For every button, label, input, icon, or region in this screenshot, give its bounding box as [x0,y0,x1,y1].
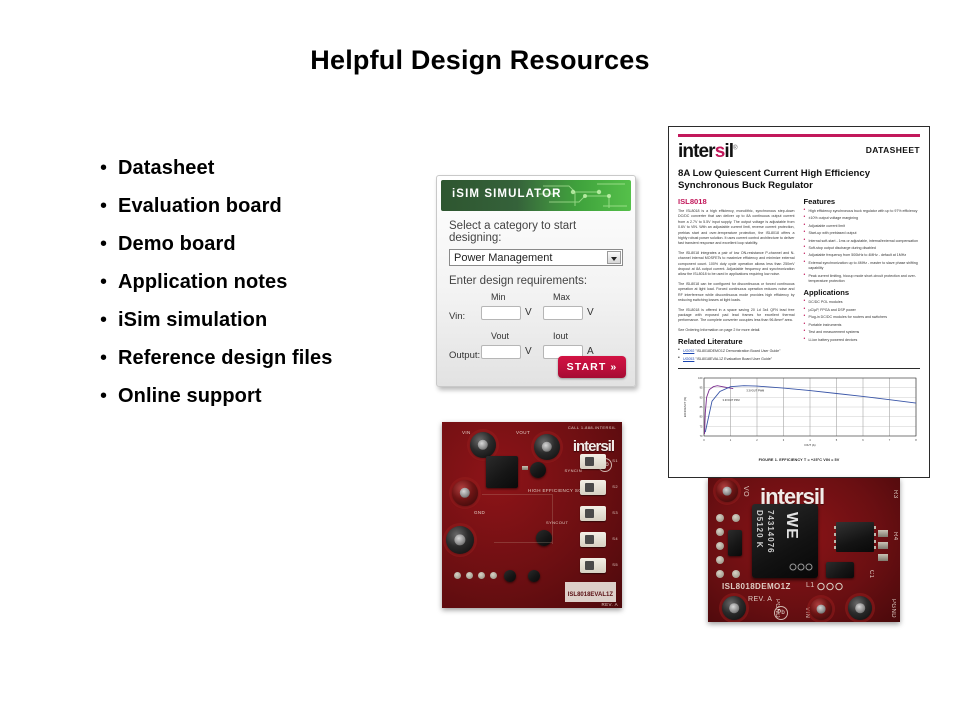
board-callout-text: CALL 1-888-INTERSIL [568,425,616,430]
solder-pad [490,572,497,579]
doc-type-label: DATASHEET [866,145,920,155]
bullet-marker-icon: • [100,383,118,409]
isim-body: Select a category to start designing: Po… [437,211,635,370]
vout-unit: V [525,346,532,357]
application-item: Li-ion battery powered devices [804,338,921,343]
silk-label: VO [742,486,749,497]
feature-item: Peak current limiting, hiccup mode short… [804,274,921,285]
silk-label: S1 [612,458,618,463]
smd-component [878,530,888,537]
related-literature-list: UG092 "ISL8018DEMO1Z Demonstration Board… [678,349,795,362]
svg-text:4: 4 [809,438,811,442]
feature-item: Start-up with prebiased output [804,231,921,236]
solder-pad [454,572,461,579]
svg-text:7: 7 [889,438,891,442]
inductor-pads-icon [789,560,815,574]
test-point [722,596,746,620]
datasheet-paragraph: The ISL8018 integrates a pair of low ON-… [678,251,795,278]
feature-item: External synchronization up to 4MHz - ma… [804,261,921,272]
related-link[interactable]: UG092 [683,349,694,353]
datasheet-left-column: ISL8018 The ISL8018 is a high efficiency… [678,197,795,364]
application-item: Test and measurement systems [804,330,921,335]
ic-chip [836,522,874,552]
board-part-label: ISL8018EVAL1Z [568,592,613,598]
silk-label: VOUT [516,430,530,435]
silk-label: SYNCIN [564,468,582,473]
bullet-marker-icon: • [100,345,118,371]
bullet-marker-icon: • [100,269,118,295]
silk-label: VIN [462,430,471,435]
solder-pad [716,542,724,550]
part-number: ISL8018 [678,197,795,206]
feature-item: Soft-stop output discharge during disabl… [804,246,921,251]
solder-pad [478,572,485,579]
solder-pad [732,514,740,522]
svg-text:85: 85 [700,405,703,409]
list-item: • Online support [100,383,420,421]
svg-text:3.3VOUT PWM: 3.3VOUT PWM [746,388,764,392]
solder-pad [716,528,724,536]
datasheet-accent-bar [678,134,920,137]
test-point [810,598,832,620]
datasheet-right-column: Features High efficiency synchronous buc… [804,197,921,364]
test-point [716,480,738,502]
datasheet-columns: ISL8018 The ISL8018 is a high efficiency… [678,197,920,364]
bullet-marker-icon: • [100,193,118,219]
dip-switch[interactable] [580,454,606,469]
datasheet-divider [678,368,920,369]
board-part-label: ISL8018DEMO1Z [722,582,791,591]
feature-item: Adjustable current limit [804,224,921,229]
list-item: • Datasheet [100,155,420,193]
silk-label: GND [474,510,485,515]
category-select-value: Power Management [454,252,552,264]
inductor-code-2: D5120 K [755,510,764,549]
datasheet-paragraph: The ISL8018 can be configured for discon… [678,282,795,304]
vout-input[interactable] [481,345,521,359]
svg-text:3.3VOUT PFM: 3.3VOUT PFM [723,398,740,402]
dip-switch[interactable] [580,506,606,521]
svg-text:70: 70 [700,434,703,438]
chevron-down-icon[interactable] [607,251,621,264]
efficiency-chart: 012345678707580859095100IOUT (A)EFFICIEN… [678,374,922,452]
silk-label: S3 [612,510,618,515]
svg-text:5: 5 [836,438,838,442]
smd-component [878,554,888,561]
features-heading: Features [804,197,921,206]
bullet-label: Reference design files [118,345,333,371]
pcb-trace [494,542,552,543]
related-text: "ISL8018DEMO1Z Demonstration Board User … [695,349,780,353]
pad-row-icon [816,582,846,591]
solder-pad [732,570,740,578]
related-link[interactable]: UG053 [683,357,694,361]
bullet-label: Online support [118,383,262,409]
dip-switch[interactable] [580,532,606,547]
capacitor-component [826,562,854,578]
vin-max-unit: V [587,307,594,318]
capacitor-component [728,530,742,556]
category-prompt: Select a category to start designing: [449,220,623,244]
inductor-component [486,456,518,488]
svg-text:75: 75 [700,424,703,428]
application-item: µC/µP, FPGA and DSP power [804,308,921,313]
bullet-label: Evaluation board [118,193,282,219]
capacitor-component [504,570,516,582]
svg-text:90: 90 [700,395,703,399]
datasheet-paragraph: See Ordering Information on page 2 for m… [678,328,795,333]
col-header-iout: Iout [553,331,568,341]
we-inductor: WE 74314076 D5120 K [752,504,818,578]
board-rev-label: REV. A [602,602,619,607]
board-rev-label: REV. A [748,596,772,603]
solder-pad [716,556,724,564]
vin-min-input[interactable] [481,306,521,320]
capacitor-component [530,462,546,478]
application-item: DC/DC POL modules [804,300,921,305]
start-button[interactable]: START » [558,356,626,378]
related-item[interactable]: UG053 "ISL8018EVAL1Z Evaluation Board Us… [678,357,795,362]
svg-text:2: 2 [756,438,758,442]
applications-list: DC/DC POL modules µC/µP, FPGA and DSP po… [804,300,921,342]
list-item: • iSim simulation [100,307,420,345]
banana-jack [446,526,474,554]
datasheet-page: intersil® DATASHEET 8A Low Quiescent Cur… [668,126,930,478]
test-point [848,596,872,620]
col-header-vout: Vout [491,331,509,341]
silk-label: C1 [868,570,874,578]
pcb-trace [552,494,553,544]
vin-row: Vin: V V [449,303,623,331]
capacitor-component [536,530,552,546]
inductor-brand-label: WE [782,512,800,540]
silk-label: S4 [612,536,618,541]
list-item: • Reference design files [100,345,420,383]
bullet-marker-icon: • [100,307,118,333]
slide-root: Helpful Design Resources • Datasheet • E… [0,0,960,720]
feature-item: Adjustable frequency from 500kHz to 4MHz… [804,253,921,258]
silk-label: L1 [806,582,815,589]
isim-title: iSIM SIMULATOR [452,188,562,200]
silk-label: SYNCOUT [546,520,568,525]
figure-caption: FIGURE 1. EFFICIENCY T = +25°C VIN = 5V [678,458,920,462]
list-item: • Evaluation board [100,193,420,231]
bullet-marker-icon: • [100,155,118,181]
svg-text:6: 6 [862,438,864,442]
bullet-marker-icon: • [100,231,118,257]
capacitor-component [528,570,540,582]
vin-row-label: Vin: [449,311,465,322]
col-header-min: Min [491,292,506,302]
smd-component [878,542,888,549]
feature-item: Internal soft-start - 1ms or adjustable,… [804,239,921,244]
silk-label: S5 [612,562,618,567]
related-text: "ISL8018EVAL1Z Evaluation Board User Gui… [695,357,772,361]
banana-jack [470,432,496,458]
datasheet-paragraph: The ISL8018 is a high efficiency, monoli… [678,209,795,247]
bullet-label: iSim simulation [118,307,267,333]
col-header-max: Max [553,292,570,302]
svg-text:1: 1 [730,438,732,442]
bullet-label: Application notes [118,269,287,295]
solder-pad [716,570,724,578]
features-list: High efficiency synchronous buck regulat… [804,209,921,284]
bullet-label: Demo board [118,231,236,257]
vin-min-unit: V [525,307,532,318]
application-item: Portable instruments [804,323,921,328]
datasheet-title: 8A Low Quiescent Current High Efficiency… [678,168,920,192]
evaluation-board-image: CALL 1-888-INTERSIL intersil Pb VIN VOUT… [442,422,622,608]
dip-switch[interactable] [580,558,606,573]
category-select[interactable]: Power Management [449,249,623,266]
svg-text:100: 100 [698,376,703,380]
application-item: Plug-in DC/DC modules for routers and sw… [804,315,921,320]
banana-jack [452,480,478,506]
silk-label: S2 [612,484,618,489]
efficiency-figure: 012345678707580859095100IOUT (A)EFFICIEN… [678,374,920,462]
bullet-label: Datasheet [118,155,215,181]
silk-label: R4 [892,532,898,540]
svg-text:3: 3 [783,438,785,442]
feature-item: ±10% output voltage margining [804,216,921,221]
banana-jack [534,434,560,460]
inductor-code-1: 74314076 [766,510,775,554]
list-item: • Application notes [100,269,420,307]
intersil-logo: intersil [573,438,614,455]
output-column-headers: Vout Iout [449,331,623,342]
intersil-logo: intersil® [678,141,737,163]
vin-column-headers: Min Max [449,292,623,303]
pb-free-icon: Pb [774,606,788,620]
dip-switch[interactable] [580,480,606,495]
applications-heading: Applications [804,288,921,297]
svg-text:EFFICIENCY (%): EFFICIENCY (%) [683,397,687,417]
silk-label: R3 [892,490,898,498]
solder-pad [716,514,724,522]
related-literature-heading: Related Literature [678,337,795,346]
svg-text:95: 95 [700,386,703,390]
datasheet-paragraph: The ISL8018 is offered in a space saving… [678,308,795,324]
page-title: Helpful Design Resources [0,45,960,76]
datasheet-header: intersil® DATASHEET [678,139,920,165]
svg-text:8: 8 [915,438,917,442]
solder-pad [466,572,473,579]
isim-header: iSIM SIMULATOR [441,180,631,211]
silk-label: PGND [890,599,896,618]
output-row-label: Output: [449,350,480,361]
list-item: • Demo board [100,231,420,269]
svg-text:80: 80 [700,415,703,419]
smd-component [522,466,528,470]
related-item[interactable]: UG092 "ISL8018DEMO1Z Demonstration Board… [678,349,795,354]
pcb-trace [482,494,552,495]
demo-board-image: intersil VO WE 74314076 D5120 K [708,478,900,622]
isim-simulator-panel: iSIM SIMULATOR Select a category to star… [436,175,636,387]
svg-text:IOUT (A): IOUT (A) [804,443,815,447]
feature-item: High efficiency synchronous buck regulat… [804,209,921,214]
resource-bullet-list: • Datasheet • Evaluation board • Demo bo… [100,155,420,421]
svg-text:0: 0 [703,438,705,442]
requirements-prompt: Enter design requirements: [449,275,623,287]
vin-max-input[interactable] [543,306,583,320]
